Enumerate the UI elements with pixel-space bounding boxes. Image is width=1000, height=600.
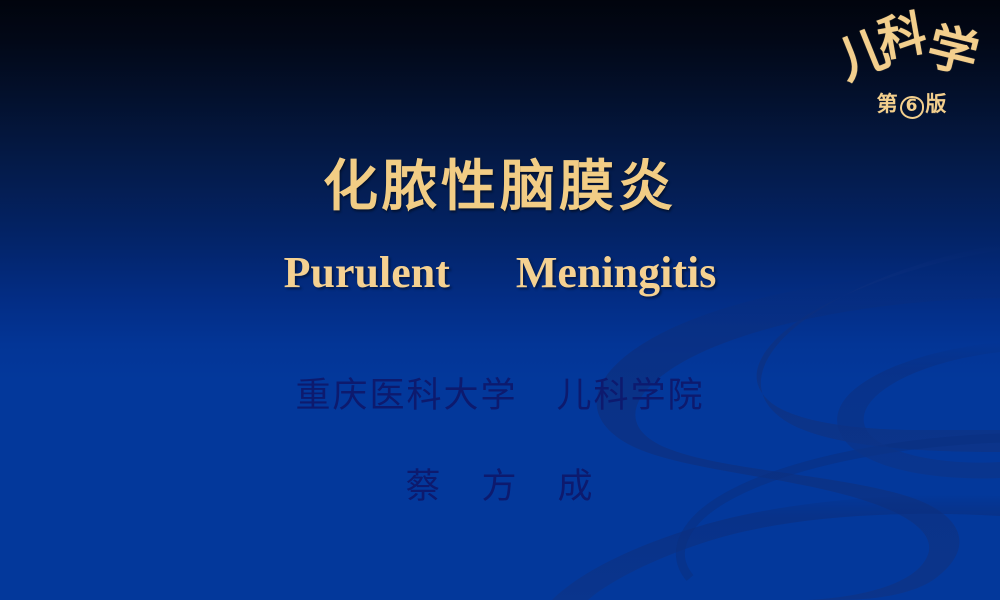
presentation-title-slide: 儿 科 学 第6版 化脓性脑膜炎 Purulent Meningitis 重庆医… bbox=[0, 0, 1000, 600]
publisher-logo: 儿 科 学 第6版 bbox=[836, 8, 988, 126]
logo-glyph-xue: 学 bbox=[923, 21, 984, 82]
wave-band-middle bbox=[597, 270, 1000, 600]
edition-suffix: 版 bbox=[925, 92, 947, 116]
wave-band-lower bbox=[552, 495, 1000, 600]
affiliation-text: 重庆医科大学 儿科学院 bbox=[0, 377, 1000, 416]
wave-band-group bbox=[552, 244, 1000, 600]
author-name: 蔡 方 成 bbox=[0, 468, 1000, 507]
logo-edition-label: 第6版 bbox=[836, 94, 988, 119]
slide-title-english: Purulent Meningitis bbox=[0, 249, 1000, 297]
logo-glyph-ke: 科 bbox=[874, 9, 930, 65]
edition-number: 6 bbox=[900, 96, 925, 119]
slide-title-chinese: 化脓性脑膜炎 bbox=[0, 157, 1000, 215]
logo-glyph-group: 儿 科 学 bbox=[836, 8, 988, 94]
wave-accent-stroke bbox=[680, 438, 1000, 578]
edition-prefix: 第 bbox=[877, 92, 899, 116]
